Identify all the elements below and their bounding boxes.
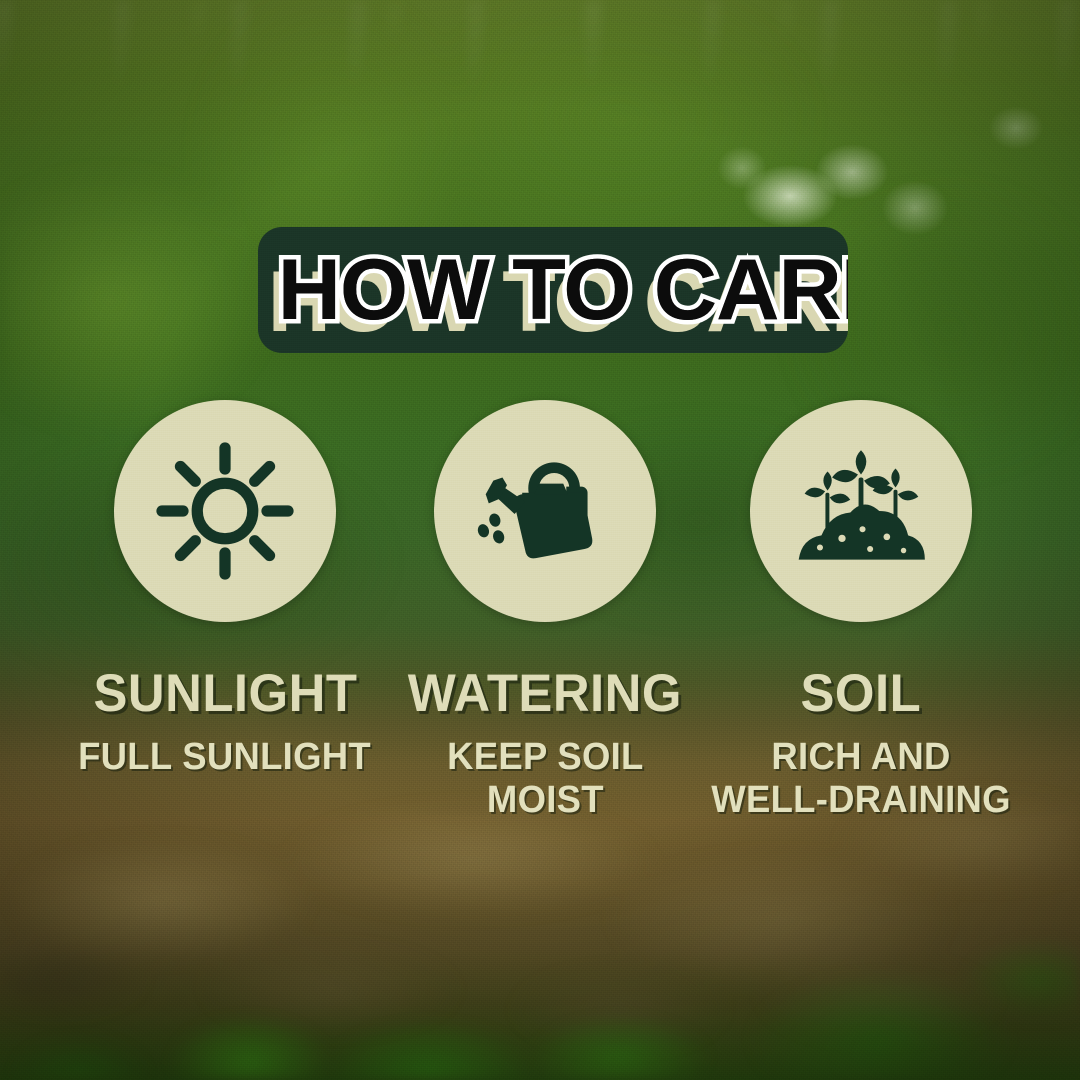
care-item-title: SUNLIGHT (93, 668, 357, 720)
care-item-description: KEEP SOILMOIST (447, 736, 644, 822)
care-item-watering[interactable]: WATERING KEEP SOILMOIST (385, 400, 705, 822)
care-item-title: SOIL (801, 668, 922, 720)
care-items-section: SUNLIGHT FULL SUNLIGHT (0, 400, 1080, 822)
title-banner: HOW TO CARE HOW TO CARE HOW TO CARE (258, 227, 848, 353)
page-title: HOW TO CARE (278, 244, 829, 336)
care-item-description: FULL SUNLIGHT (79, 736, 372, 779)
care-item-title: WATERING (408, 668, 682, 720)
title-text-stack: HOW TO CARE HOW TO CARE HOW TO CARE (283, 244, 823, 336)
care-items-row: SUNLIGHT FULL SUNLIGHT (0, 400, 1080, 822)
watering-can-icon (469, 435, 621, 587)
care-item-sunlight[interactable]: SUNLIGHT FULL SUNLIGHT (65, 400, 385, 779)
sun-icon (150, 436, 300, 586)
soil-icon-badge (750, 400, 972, 622)
care-infographic-poster: HOW TO CARE HOW TO CARE HOW TO CARE (0, 0, 1080, 1080)
watering-icon-badge (434, 400, 656, 622)
sunlight-icon-badge (114, 400, 336, 622)
care-item-soil[interactable]: SOIL RICH ANDWELL-DRAINING (701, 400, 1021, 822)
care-item-description: RICH ANDWELL-DRAINING (711, 736, 1011, 822)
soil-sprouts-icon (785, 435, 937, 587)
